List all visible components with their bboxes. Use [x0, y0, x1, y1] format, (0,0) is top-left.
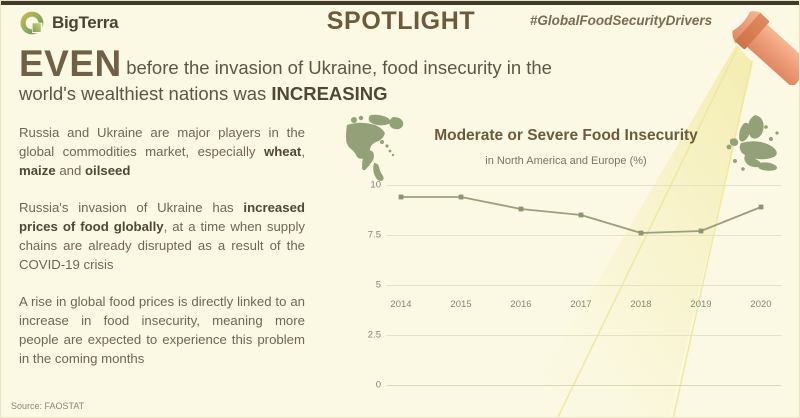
chart-data-point[interactable]: [579, 213, 584, 218]
body-text: Russia's invasion of Ukraine has: [19, 200, 243, 215]
headline-line2: world's wealthiest nations was: [19, 83, 271, 104]
body-text: and: [56, 163, 85, 178]
y-axis-tick-label: 7.5: [357, 230, 381, 241]
emphasis-text: wheat: [264, 144, 301, 159]
y-axis-tick-label: 10: [357, 180, 381, 191]
chart-data-point[interactable]: [519, 207, 524, 212]
headline-line1: before the invasion of Ukraine, food ins…: [126, 57, 552, 78]
paragraph-insecurity: A rise in global food prices is directly…: [19, 293, 305, 368]
chart-data-point[interactable]: [759, 205, 764, 210]
y-axis-tick-label: 5: [357, 280, 381, 291]
paragraph-commodities: Russia and Ukraine are major players in …: [19, 124, 305, 180]
y-axis-tick-label: 2.5: [357, 330, 381, 341]
chart-data-point[interactable]: [459, 195, 464, 200]
hashtag-label: #GlobalFoodSecurityDrivers: [521, 13, 721, 28]
chart-plot-area: 02.557.510 2014201520162017201820192020: [357, 185, 781, 397]
chart-data-point[interactable]: [399, 195, 404, 200]
body-text: A rise in global food prices is directly…: [19, 294, 305, 365]
body-text: ,: [301, 144, 305, 159]
paragraph-food-prices: Russia's invasion of Ukraine has increas…: [19, 199, 305, 274]
chart-data-point[interactable]: [639, 231, 644, 236]
y-axis-tick-label: 0: [357, 380, 381, 391]
headline-line2-bold: INCREASING: [271, 83, 387, 104]
infographic-canvas: BigTerra SPOTLIGHT #GlobalFoodSecurityDr…: [0, 0, 800, 418]
body-text: Russia and Ukraine are major players in …: [19, 125, 305, 159]
north-america-map-icon: [341, 113, 413, 183]
headline: EVEN before the invasion of Ukraine, foo…: [19, 45, 659, 106]
top-accent-bar: [1, 1, 800, 5]
chart-panel: Moderate or Severe Food Insecurity in No…: [331, 105, 793, 405]
chart-subtitle: in North America and Europe (%): [401, 155, 731, 167]
chart-data-point[interactable]: [699, 229, 704, 234]
chart-title: Moderate or Severe Food Insecurity: [401, 127, 731, 145]
emphasis-text: oilseed: [85, 163, 130, 178]
headline-emphasis: EVEN: [19, 43, 122, 84]
chart-line-series: [387, 185, 781, 397]
source-label: Source: FAOSTAT: [11, 401, 84, 411]
emphasis-text: maize: [19, 163, 56, 178]
left-text-column: Russia and Ukraine are major players in …: [19, 111, 305, 387]
europe-map-icon: [721, 113, 787, 183]
